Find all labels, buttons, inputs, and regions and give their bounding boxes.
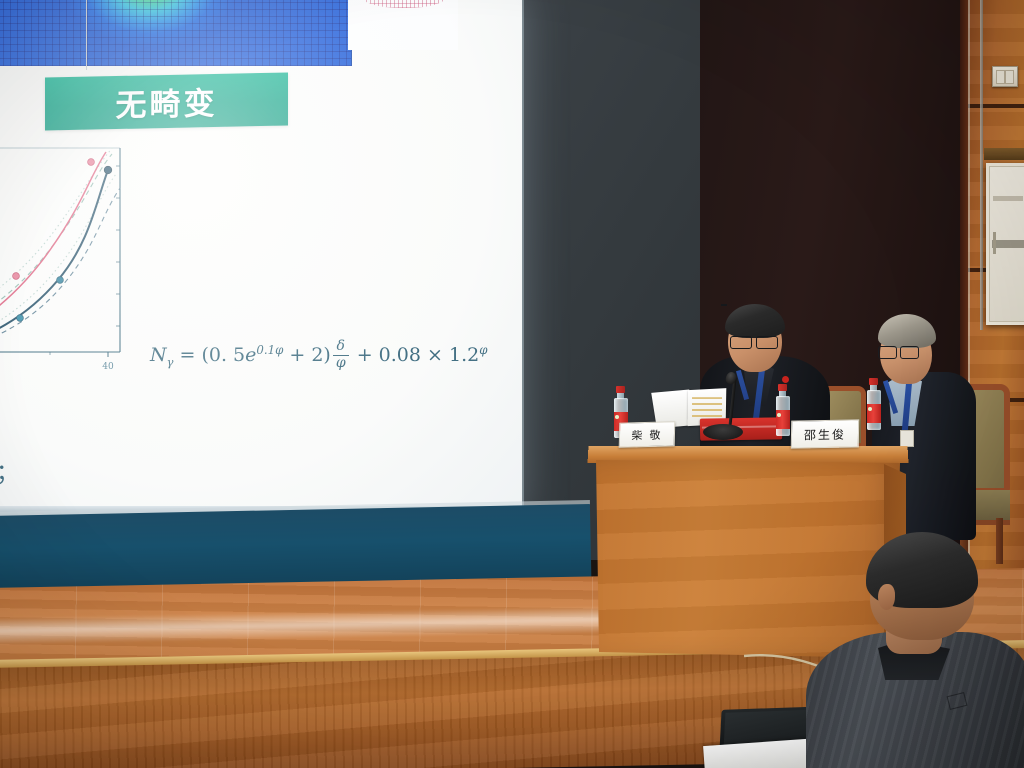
nameplate-left: 柴 敬 xyxy=(619,421,676,447)
slide-banner-label: 无畸变 xyxy=(116,78,218,125)
microphone-base xyxy=(703,424,743,440)
light-switch[interactable] xyxy=(992,66,1018,87)
bottle-cap xyxy=(778,384,787,391)
bottle-label xyxy=(867,404,881,423)
slide-bullet-list: ； 达式； xyxy=(0,406,19,494)
equation-frac-num: δ xyxy=(333,339,349,356)
water-bottle xyxy=(775,384,790,438)
projection-screen: 无畸变 xyxy=(0,0,522,520)
eyeglasses-bridge xyxy=(721,304,727,306)
nameplate-right: 邵生俊 xyxy=(791,419,859,448)
fem-contour-plot xyxy=(0,0,352,66)
equation-term1-base: e xyxy=(245,344,256,366)
slide-bullet-1: ； xyxy=(0,406,19,450)
equation-power-exp: φ xyxy=(479,343,487,357)
wall-seam xyxy=(968,104,1024,108)
chart-series-pink xyxy=(0,152,106,340)
equation-plus: + xyxy=(357,344,373,366)
water-bottle xyxy=(866,378,881,432)
deformed-mesh-grid xyxy=(362,0,446,8)
equation-coef: 0.08 xyxy=(379,344,421,366)
document-text-lines xyxy=(692,397,722,419)
chart-series-navy xyxy=(0,170,108,346)
chart-dotted-band xyxy=(0,146,114,318)
person-hair xyxy=(725,304,785,338)
electrical-panel-box[interactable] xyxy=(986,163,1024,325)
panel-label-strip-2 xyxy=(992,240,1024,248)
slide-banner: 无畸变 xyxy=(45,72,288,130)
equation-power-base: 1.2 xyxy=(449,344,479,366)
bottle-cap xyxy=(616,386,625,393)
eyeglasses-icon xyxy=(878,346,922,357)
name-badge xyxy=(900,430,914,447)
conduit-pipe xyxy=(980,0,983,330)
lapel-pin xyxy=(782,376,789,383)
slide-bullet-2: 达式； xyxy=(0,450,19,494)
figure-divider xyxy=(86,0,87,70)
audience-ear xyxy=(878,584,895,610)
bottle-cap xyxy=(869,378,878,385)
equation-lhs-sub: γ xyxy=(167,355,174,369)
person-hair xyxy=(878,314,936,348)
equation-fraction: δφ xyxy=(333,339,349,371)
mesh-border xyxy=(0,0,352,66)
picture-frame xyxy=(984,148,1024,160)
equation-times: × xyxy=(427,344,443,366)
equation-equals: = xyxy=(179,344,195,366)
deformed-mesh-plot xyxy=(348,0,458,50)
bearing-capacity-chart: 30 40 xyxy=(0,140,128,376)
conference-room-photo: 无畸变 xyxy=(0,0,1024,768)
equation-term1-open: (0. 5 xyxy=(201,344,245,366)
audience-foreground xyxy=(812,536,1024,768)
chart-axes xyxy=(0,148,120,352)
eyeglasses-icon xyxy=(729,336,781,347)
chart-xtick-label-2: 40 xyxy=(102,362,114,372)
equation-term1-exp: 0.1φ xyxy=(256,343,283,357)
chart-xticks xyxy=(0,352,108,357)
panel-label-strip xyxy=(993,196,1023,201)
equation-term1-close: + 2) xyxy=(289,344,330,366)
chart-yticks xyxy=(116,166,120,326)
chart-svg: 30 40 xyxy=(0,140,128,376)
chart-upper-bound xyxy=(0,154,112,332)
chart-lower-bound xyxy=(0,188,120,352)
slide-equation: Nγ = (0. 5e0.1φ + 2)δφ + 0.08 × 1.2φ xyxy=(150,340,487,372)
equation-frac-den: φ xyxy=(333,356,349,372)
bottle-label xyxy=(776,410,790,429)
panel-hinge xyxy=(993,232,996,254)
chart-markers xyxy=(0,159,112,350)
equation-lhs: N xyxy=(150,344,167,366)
